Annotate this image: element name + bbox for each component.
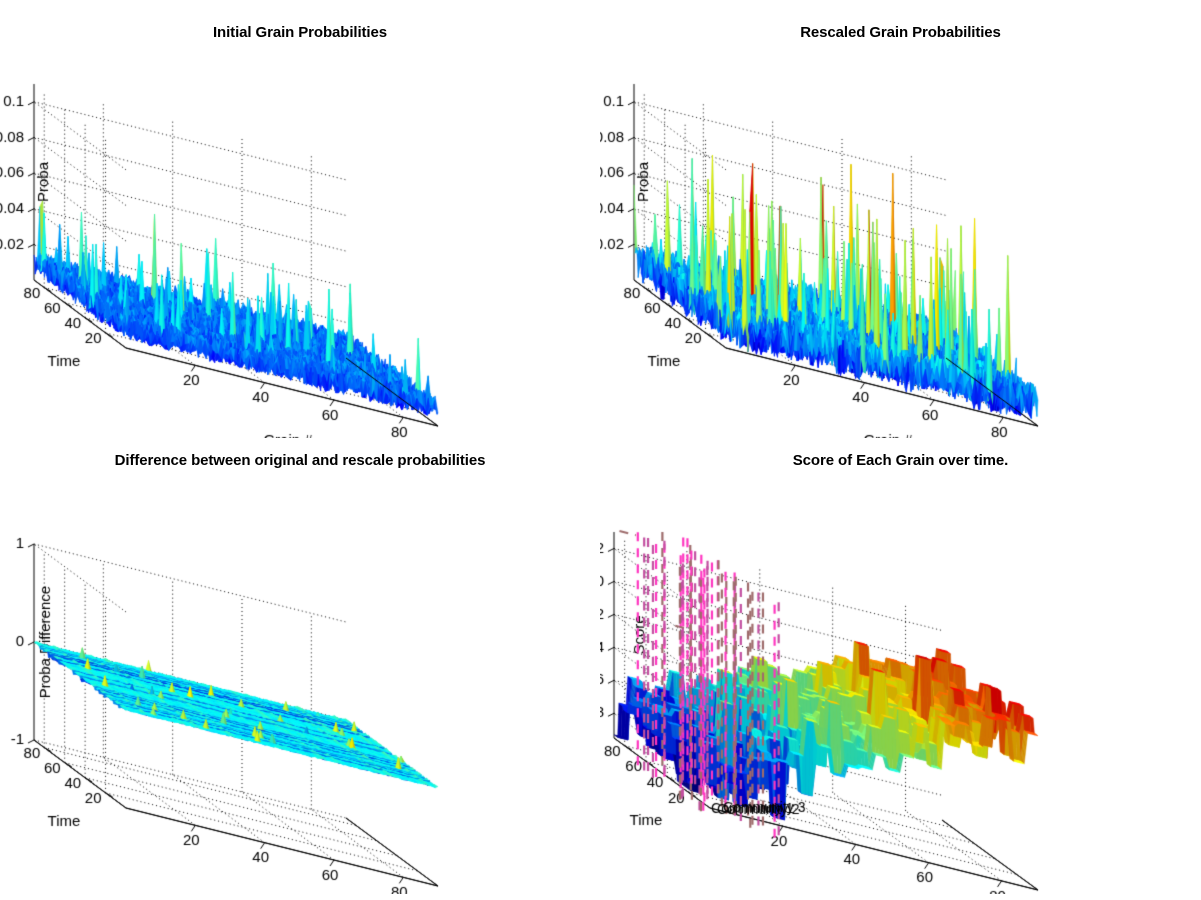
- panel-title-1: Initial Grain Probabilities: [0, 24, 600, 41]
- matlab-figure: Initial Grain Probabilities Rescaled Gra…: [0, 0, 1201, 900]
- surface-plot-initial: [0, 48, 600, 438]
- panel-title-4: Score of Each Grain over time.: [600, 452, 1201, 469]
- panel-title-3: Difference between original and rescale …: [0, 452, 600, 469]
- panel-grain-score: Score of Each Grain over time.: [600, 452, 1201, 900]
- panel-proba-difference: Difference between original and rescale …: [0, 452, 600, 900]
- surface-plot-score: [600, 476, 1201, 894]
- panel-title-2: Rescaled Grain Probabilities: [600, 24, 1201, 41]
- panel-initial-grain-probabilities: Initial Grain Probabilities: [0, 24, 600, 444]
- surface-plot-rescaled: [600, 48, 1201, 438]
- panel-rescaled-grain-probabilities: Rescaled Grain Probabilities: [600, 24, 1201, 444]
- surface-plot-difference: [0, 476, 600, 894]
